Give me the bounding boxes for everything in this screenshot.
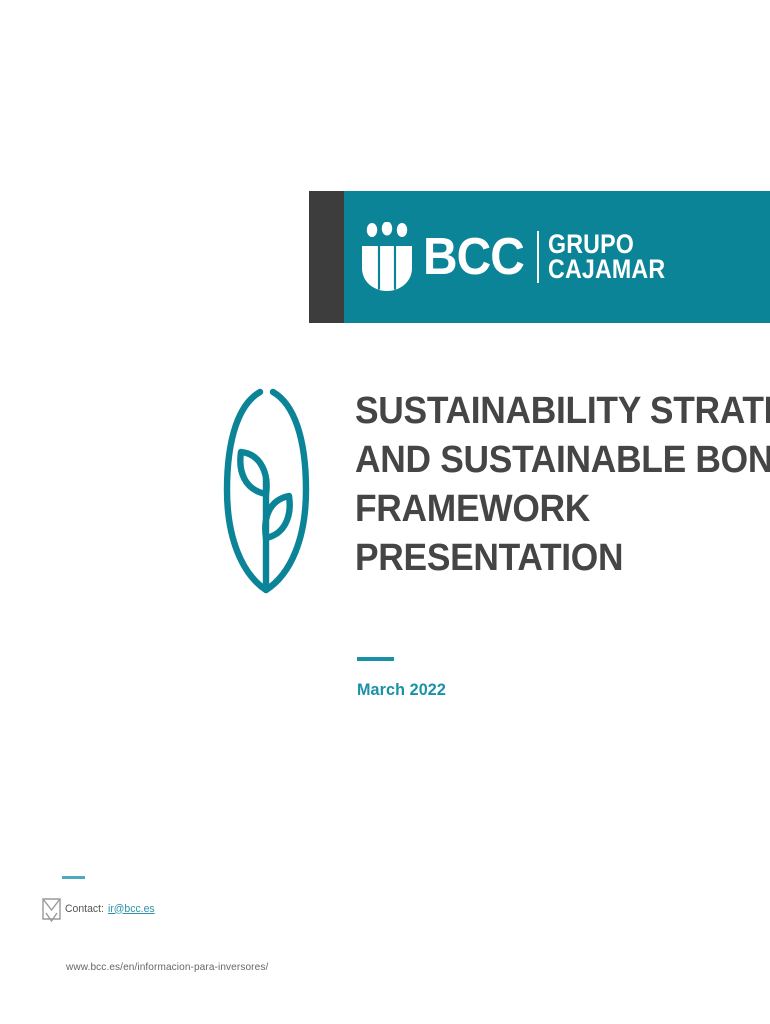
contact-row: Contact: ir@bcc.es xyxy=(41,896,157,922)
logo-subtitle-line-2: CAJAMAR xyxy=(548,257,665,282)
logo-wordmark: BCC xyxy=(423,231,524,283)
contact-label: Contact: xyxy=(65,904,104,915)
title-line-2: AND SUSTAINABLE BOND xyxy=(355,436,727,485)
contact-email-link[interactable]: ir@bcc.es xyxy=(108,904,155,915)
page-title: SUSTAINABILITY STRATEGY AND SUSTAINABLE … xyxy=(355,387,755,583)
logo-divider xyxy=(537,231,539,283)
footer-url[interactable]: www.bcc.es/en/informacion-para-inversore… xyxy=(66,962,268,973)
slide-canvas: BCC GRUPO CAJAMAR SUSTAINABILITY STRATEG… xyxy=(0,0,770,1024)
header-band: BCC GRUPO CAJAMAR xyxy=(309,191,770,323)
presentation-date: March 2022 xyxy=(357,657,451,698)
title-line-1: SUSTAINABILITY STRATEGY xyxy=(355,387,727,436)
envelope-icon xyxy=(41,896,62,922)
title-line-4: PRESENTATION xyxy=(355,534,727,583)
bcc-grupo-cajamar-logo: BCC GRUPO CAJAMAR xyxy=(361,221,684,293)
bcc-three-people-shield-icon xyxy=(361,222,413,292)
header-band-dark-accent xyxy=(309,191,344,323)
logo-subtitle: GRUPO CAJAMAR xyxy=(548,232,665,282)
plant-sprout-leaf-icon xyxy=(219,386,314,598)
date-rule-divider xyxy=(357,657,394,661)
footer-contact-block: Contact: ir@bcc.es xyxy=(62,876,157,922)
footer-rule-divider xyxy=(62,876,85,879)
title-line-3: FRAMEWORK xyxy=(355,485,727,534)
date-text: March 2022 xyxy=(357,681,446,698)
